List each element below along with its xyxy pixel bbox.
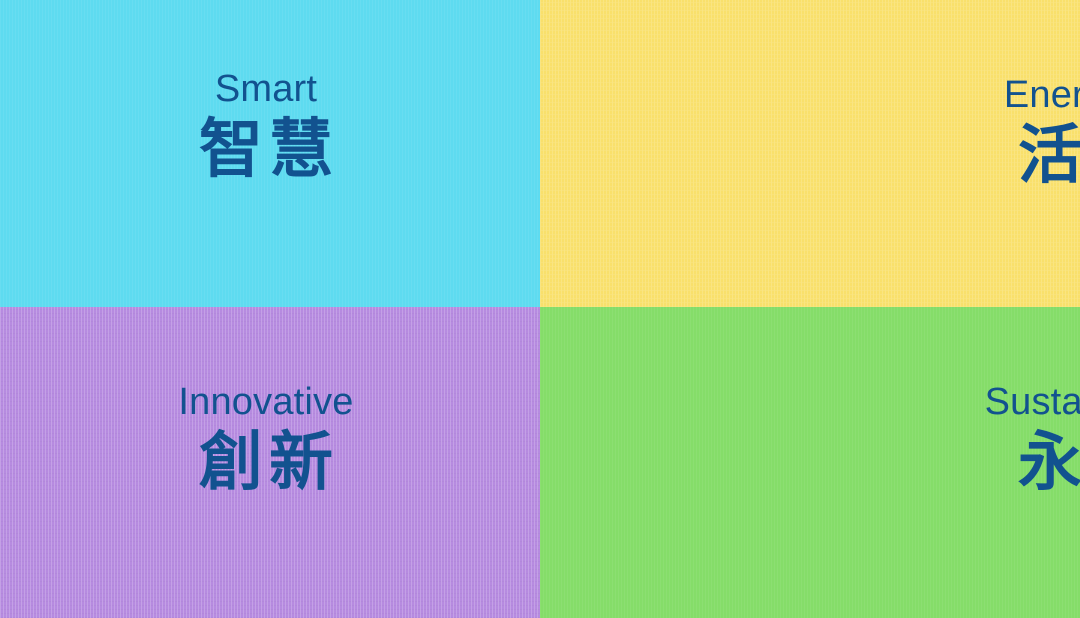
- label-en-energetic: Energetic: [1004, 75, 1080, 116]
- panel-sustainable[interactable]: Sustainable 永續: [540, 307, 1080, 618]
- label-cjk-sustainable: 永續: [1012, 427, 1080, 499]
- panel-innovative[interactable]: Innovative 創新: [0, 307, 540, 618]
- word-block-innovative: Innovative 創新: [178, 382, 353, 499]
- panel-energetic[interactable]: Energetic 活力: [540, 0, 1080, 307]
- panel-smart[interactable]: Smart 智慧: [0, 0, 540, 307]
- label-cjk-smart: 智慧: [193, 114, 339, 186]
- quadrant-grid: Smart 智慧 Energetic 活力 Innovative 創新 Sust…: [0, 0, 1080, 618]
- label-en-innovative: Innovative: [178, 382, 353, 423]
- brand-values-canvas: Smart 智慧 Energetic 活力 Innovative 創新 Sust…: [0, 0, 1080, 618]
- label-en-sustainable: Sustainable: [985, 382, 1080, 423]
- word-block-smart: Smart 智慧: [193, 69, 339, 186]
- panel-texture-overlay: [540, 0, 1080, 307]
- label-en-smart: Smart: [215, 69, 317, 110]
- label-cjk-energetic: 活力: [1012, 120, 1080, 192]
- label-cjk-innovative: 創新: [193, 427, 339, 499]
- word-block-energetic: Energetic 活力: [1004, 75, 1080, 192]
- word-block-sustainable: Sustainable 永續: [985, 382, 1080, 499]
